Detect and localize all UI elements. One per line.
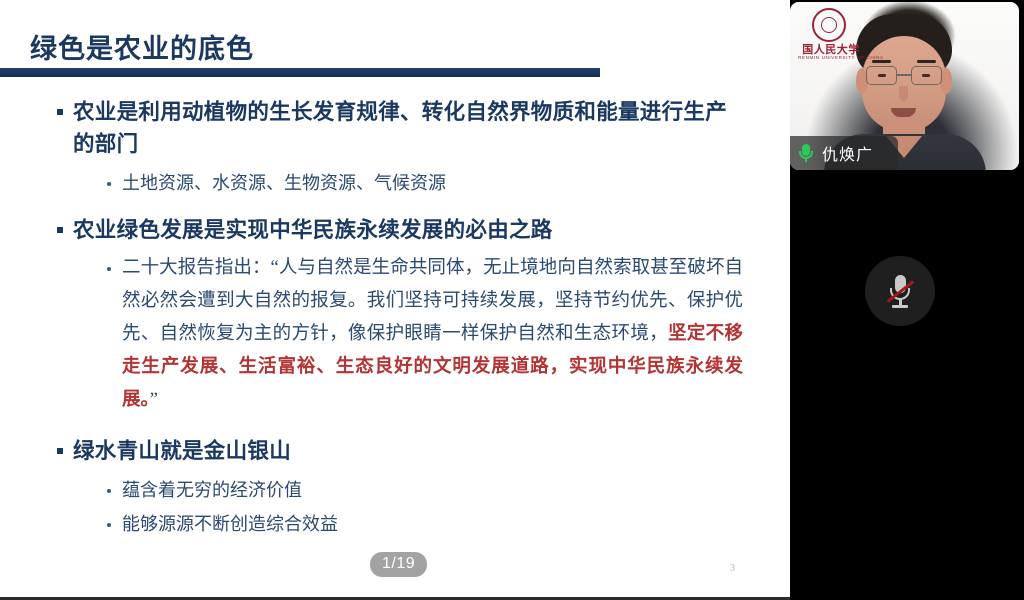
bullet-level2: 土地资源、水资源、生物资源、气候资源 xyxy=(103,166,743,200)
participant-video-tile[interactable]: 国人民大学 RENMIN UNIVERSITY OF CHINA 仇焕广 xyxy=(790,2,1019,170)
slide-title: 绿色是农业的底色 xyxy=(30,27,254,66)
quote-lead-text: 二十大报告指出：“人与自然是生命共同体，无止境地向自然索取甚至破坏自然必然会遭到… xyxy=(122,258,743,344)
shared-slide: 绿色是农业的底色 农业是利用动植物的生长发育规律、转化自然界物质和能量进行生产的… xyxy=(0,0,790,597)
spacer xyxy=(0,200,790,214)
mute-status-badge xyxy=(865,256,935,326)
participant-muted-tile[interactable] xyxy=(790,172,1024,600)
bullet-level1: 绿水青山就是金山银山 xyxy=(55,435,735,467)
bullet-level1: 农业是利用动植物的生长发育规律、转化自然界物质和能量进行生产的部门 xyxy=(55,96,735,160)
avatar-brow-left xyxy=(872,60,891,63)
quote-closing-mark: ” xyxy=(150,390,158,410)
bullet-level1: 农业绿色发展是实现中华民族永续发展的必由之路 xyxy=(55,214,735,246)
spacer xyxy=(0,417,790,435)
avatar-brow-right xyxy=(917,60,936,63)
avatar-nose xyxy=(899,86,908,101)
participant-name: 仇焕广 xyxy=(822,141,873,165)
title-underline-rule xyxy=(0,68,600,77)
avatar-eye-left xyxy=(878,74,886,77)
microphone-muted-icon xyxy=(888,273,912,309)
bullet-level2: 蕴含着无穷的经济价值 xyxy=(103,473,743,507)
mic-base xyxy=(892,305,908,308)
video-panel-column: 国人民大学 RENMIN UNIVERSITY OF CHINA 仇焕广 xyxy=(790,0,1024,600)
microphone-on-icon xyxy=(797,142,814,164)
avatar-eye-right xyxy=(922,74,930,77)
page-indicator[interactable]: 1/19 xyxy=(370,552,427,577)
participant-name-bar: 仇焕广 xyxy=(790,136,898,170)
report-quote: 二十大报告指出：“人与自然是生命共同体，无止境地向自然索取甚至破坏自然必然会遭到… xyxy=(103,252,743,417)
bullet-level2: 能够源源不断创造综合效益 xyxy=(103,507,743,541)
glasses-bridge xyxy=(897,74,911,76)
mic-stem xyxy=(805,158,807,162)
screen-share-meeting-view: 绿色是农业的底色 农业是利用动植物的生长发育规律、转化自然界物质和能量进行生产的… xyxy=(0,0,1024,600)
slide-body: 农业是利用动植物的生长发育规律、转化自然界物质和能量进行生产的部门 土地资源、水… xyxy=(0,96,790,541)
slide-number: 3 xyxy=(730,563,735,574)
